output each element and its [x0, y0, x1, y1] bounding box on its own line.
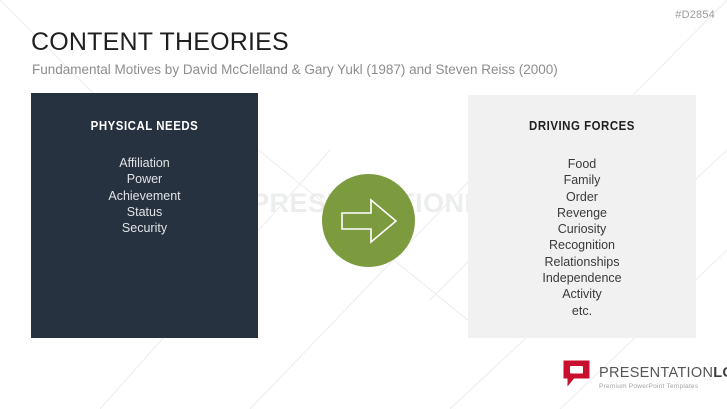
arrow-right-icon	[340, 197, 398, 245]
list-item: Curiosity	[468, 221, 696, 237]
list-item: etc.	[468, 303, 696, 319]
list-item: Status	[31, 204, 258, 220]
logo-wordmark: PRESENTATIONLOAD®	[599, 362, 727, 381]
logo-tagline: Premium PowerPoint Templates	[599, 383, 727, 390]
list-item: Recognition	[468, 237, 696, 253]
logo-word-part1: PRESENTATION	[599, 365, 713, 381]
list-item: Power	[31, 171, 258, 187]
page-title: CONTENT THEORIES	[31, 28, 289, 56]
slide-canvas: #D2854 CONTENT THEORIES Fundamental Moti…	[0, 0, 727, 409]
list-item: Independence	[468, 270, 696, 286]
list-item: Relationships	[468, 254, 696, 270]
physical-needs-list: Affiliation Power Achievement Status Sec…	[31, 155, 258, 236]
list-item: Security	[31, 220, 258, 236]
slide-id-label: #D2854	[675, 9, 715, 21]
list-item: Affiliation	[31, 155, 258, 171]
driving-forces-panel-title: DRIVING FORCES	[482, 118, 683, 133]
logo-text-block: PRESENTATIONLOAD® Premium PowerPoint Tem…	[599, 360, 727, 390]
physical-needs-panel: PHYSICAL NEEDS Affiliation Power Achieve…	[31, 93, 258, 338]
presentationload-logo: PRESENTATIONLOAD® Premium PowerPoint Tem…	[563, 360, 727, 390]
page-subtitle: Fundamental Motives by David McClelland …	[32, 61, 558, 79]
list-item: Revenge	[468, 205, 696, 221]
arrow-badge	[322, 174, 415, 267]
logo-word-part2: LOAD	[713, 365, 727, 381]
list-item: Activity	[468, 286, 696, 302]
physical-needs-panel-title: PHYSICAL NEEDS	[45, 118, 245, 133]
list-item: Family	[468, 172, 696, 188]
list-item: Achievement	[31, 188, 258, 204]
list-item: Order	[468, 189, 696, 205]
list-item: Food	[468, 156, 696, 172]
driving-forces-list: Food Family Order Revenge Curiosity Reco…	[468, 156, 696, 319]
driving-forces-panel: DRIVING FORCES Food Family Order Revenge…	[468, 95, 696, 338]
speech-bubble-p-icon	[563, 360, 590, 387]
